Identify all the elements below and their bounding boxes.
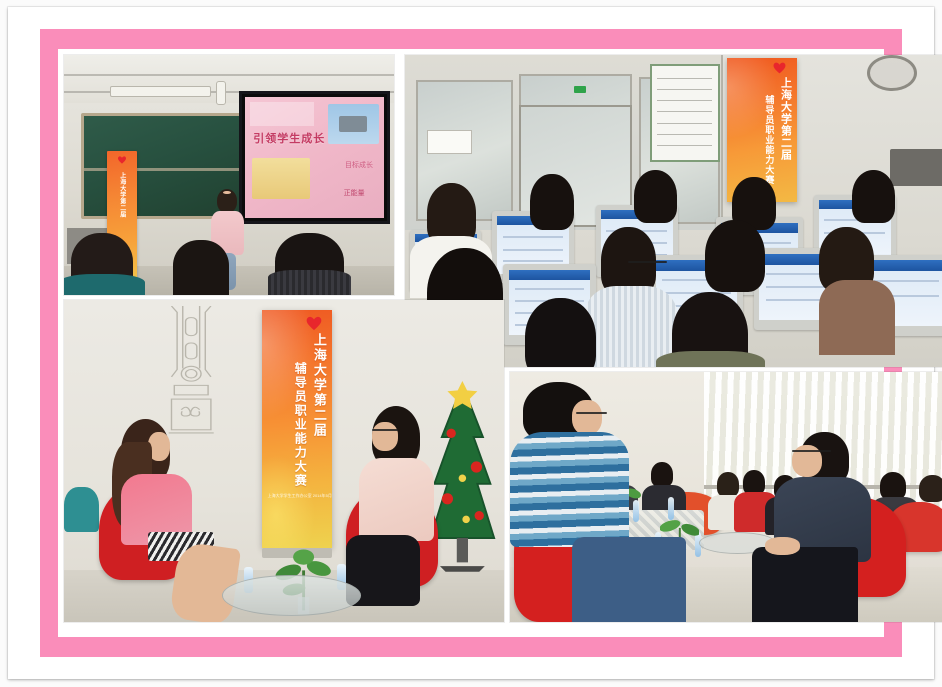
banner-footer-text: 上海大学学生工作办公室 2014年5月 bbox=[268, 493, 332, 499]
glasses-icon bbox=[628, 261, 666, 263]
heart-apple-logo-icon bbox=[773, 62, 786, 74]
participant-head bbox=[705, 220, 765, 292]
presenter-head bbox=[217, 189, 237, 212]
audience-member bbox=[71, 233, 134, 295]
wall-relief-column bbox=[156, 306, 226, 454]
banner-text-line1: 上海大学第二届 bbox=[778, 77, 794, 161]
wall-sign bbox=[427, 130, 473, 154]
observer-head bbox=[651, 462, 673, 487]
presenter-face bbox=[223, 191, 231, 194]
collage-inner-area: 引领学生成长 目标成长 正能量 上海大学第二届 bbox=[58, 49, 884, 637]
slide-band bbox=[250, 102, 314, 126]
slide-title: 引领学生成长 bbox=[253, 130, 325, 146]
listener-jeans bbox=[572, 537, 686, 622]
roll-up-banner: 上海大学第二届 辅导员职业能力大赛 上海大学学生工作办公室 2014年5月 bbox=[262, 310, 332, 548]
observer-head bbox=[880, 472, 906, 500]
participant-head bbox=[530, 174, 574, 230]
heart-apple-logo-icon bbox=[306, 316, 322, 331]
participant-top bbox=[359, 458, 434, 542]
glasses-icon bbox=[792, 450, 832, 452]
listener-face bbox=[572, 400, 603, 435]
glasses-icon bbox=[576, 412, 607, 414]
pink-mat-border: 引领学生成长 目标成长 正能量 上海大学第二届 bbox=[40, 29, 902, 657]
exit-sign-icon bbox=[574, 86, 586, 93]
participant-torso bbox=[656, 351, 765, 367]
equipment-box bbox=[890, 149, 942, 186]
projection-screen: 引领学生成长 目标成长 正能量 bbox=[239, 91, 390, 224]
ceiling-line bbox=[64, 74, 394, 76]
photo-collage: 引领学生成长 目标成长 正能量 上海大学第二届 bbox=[58, 49, 884, 637]
participant-head bbox=[525, 298, 596, 367]
glass-coffee-table bbox=[222, 575, 360, 616]
glasses-icon bbox=[372, 429, 398, 431]
banner-text-line1: 上海大学第二届 bbox=[118, 172, 126, 218]
wall-fan-icon bbox=[867, 55, 917, 91]
participant-head bbox=[852, 170, 896, 223]
audience-member bbox=[275, 233, 344, 295]
participant-torso bbox=[819, 280, 895, 355]
ceiling-lamp bbox=[110, 86, 211, 96]
banner-text-line1: 上海大学第二届 bbox=[310, 333, 329, 438]
heart-apple-logo-icon bbox=[117, 156, 126, 164]
participant-face bbox=[372, 422, 398, 451]
listener-striped-polo bbox=[510, 432, 629, 547]
slide-photo-projector bbox=[328, 104, 378, 144]
speaker-trousers bbox=[752, 547, 858, 622]
observer-head bbox=[717, 472, 739, 497]
photo-bottom-left[interactable]: 上海大学第二届 辅导员职业能力大赛 上海大学学生工作办公室 2014年5月 bbox=[64, 300, 504, 622]
presentation-slide: 引领学生成长 目标成长 正能量 bbox=[245, 97, 384, 218]
observer-head bbox=[919, 475, 942, 503]
notice-board bbox=[650, 64, 719, 162]
page-background: 引领学生成长 目标成长 正能量 上海大学第二届 bbox=[0, 0, 942, 687]
photo-bottom-right[interactable] bbox=[510, 372, 942, 622]
banner-text-line2: 辅导员职业能力大赛 bbox=[292, 362, 309, 488]
slide-signature: 正能量 bbox=[344, 188, 365, 198]
photo-card: 引领学生成长 目标成长 正能量 上海大学第二届 bbox=[8, 7, 934, 679]
participant-head bbox=[634, 170, 678, 223]
audience-member bbox=[173, 240, 229, 295]
photo-top-left[interactable]: 引领学生成长 目标成长 正能量 上海大学第二届 bbox=[64, 55, 394, 295]
slide-subtitle: 目标成长 bbox=[345, 160, 373, 170]
speaker-hands bbox=[765, 537, 800, 555]
banner-text-line2: 辅导员职业能力大赛 bbox=[763, 95, 776, 185]
slide-photo-group bbox=[252, 158, 310, 199]
observer-head bbox=[743, 470, 765, 495]
teal-chair bbox=[64, 487, 99, 532]
projector-mount bbox=[216, 81, 226, 105]
